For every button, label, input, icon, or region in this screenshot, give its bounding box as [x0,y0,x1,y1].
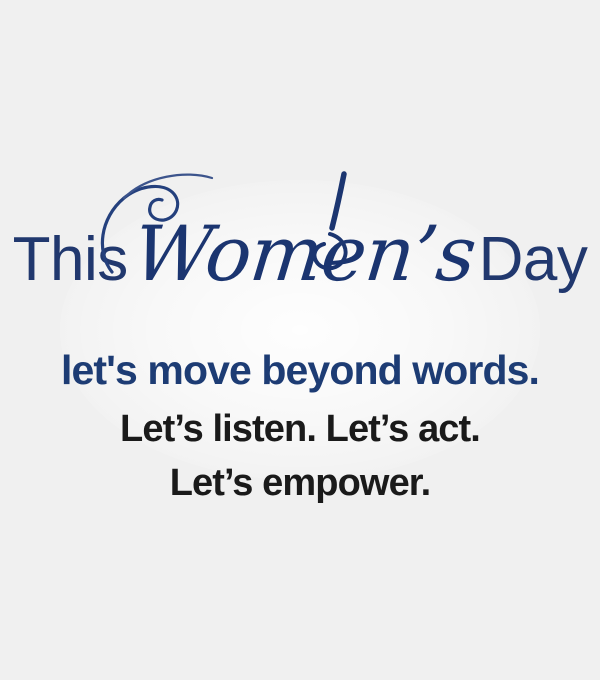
poster-content: ThisWomen’s Day let's move beyond words.… [0,0,600,680]
poster-canvas: ThisWomen’s Day let's move beyond words.… [0,0,600,680]
headline-script-group: Women’s [128,216,479,292]
headline-prefix: This [13,225,128,294]
body-line-empower: Let’s empower. [0,464,600,502]
headline-script-word: Women’s [130,216,479,292]
headline: ThisWomen’s Day [0,216,600,292]
body-line-listen-act: Let’s listen. Let’s act. [0,410,600,448]
body-line-move-beyond-words: let's move beyond words. [0,350,600,391]
headline-suffix: Day [479,225,588,294]
